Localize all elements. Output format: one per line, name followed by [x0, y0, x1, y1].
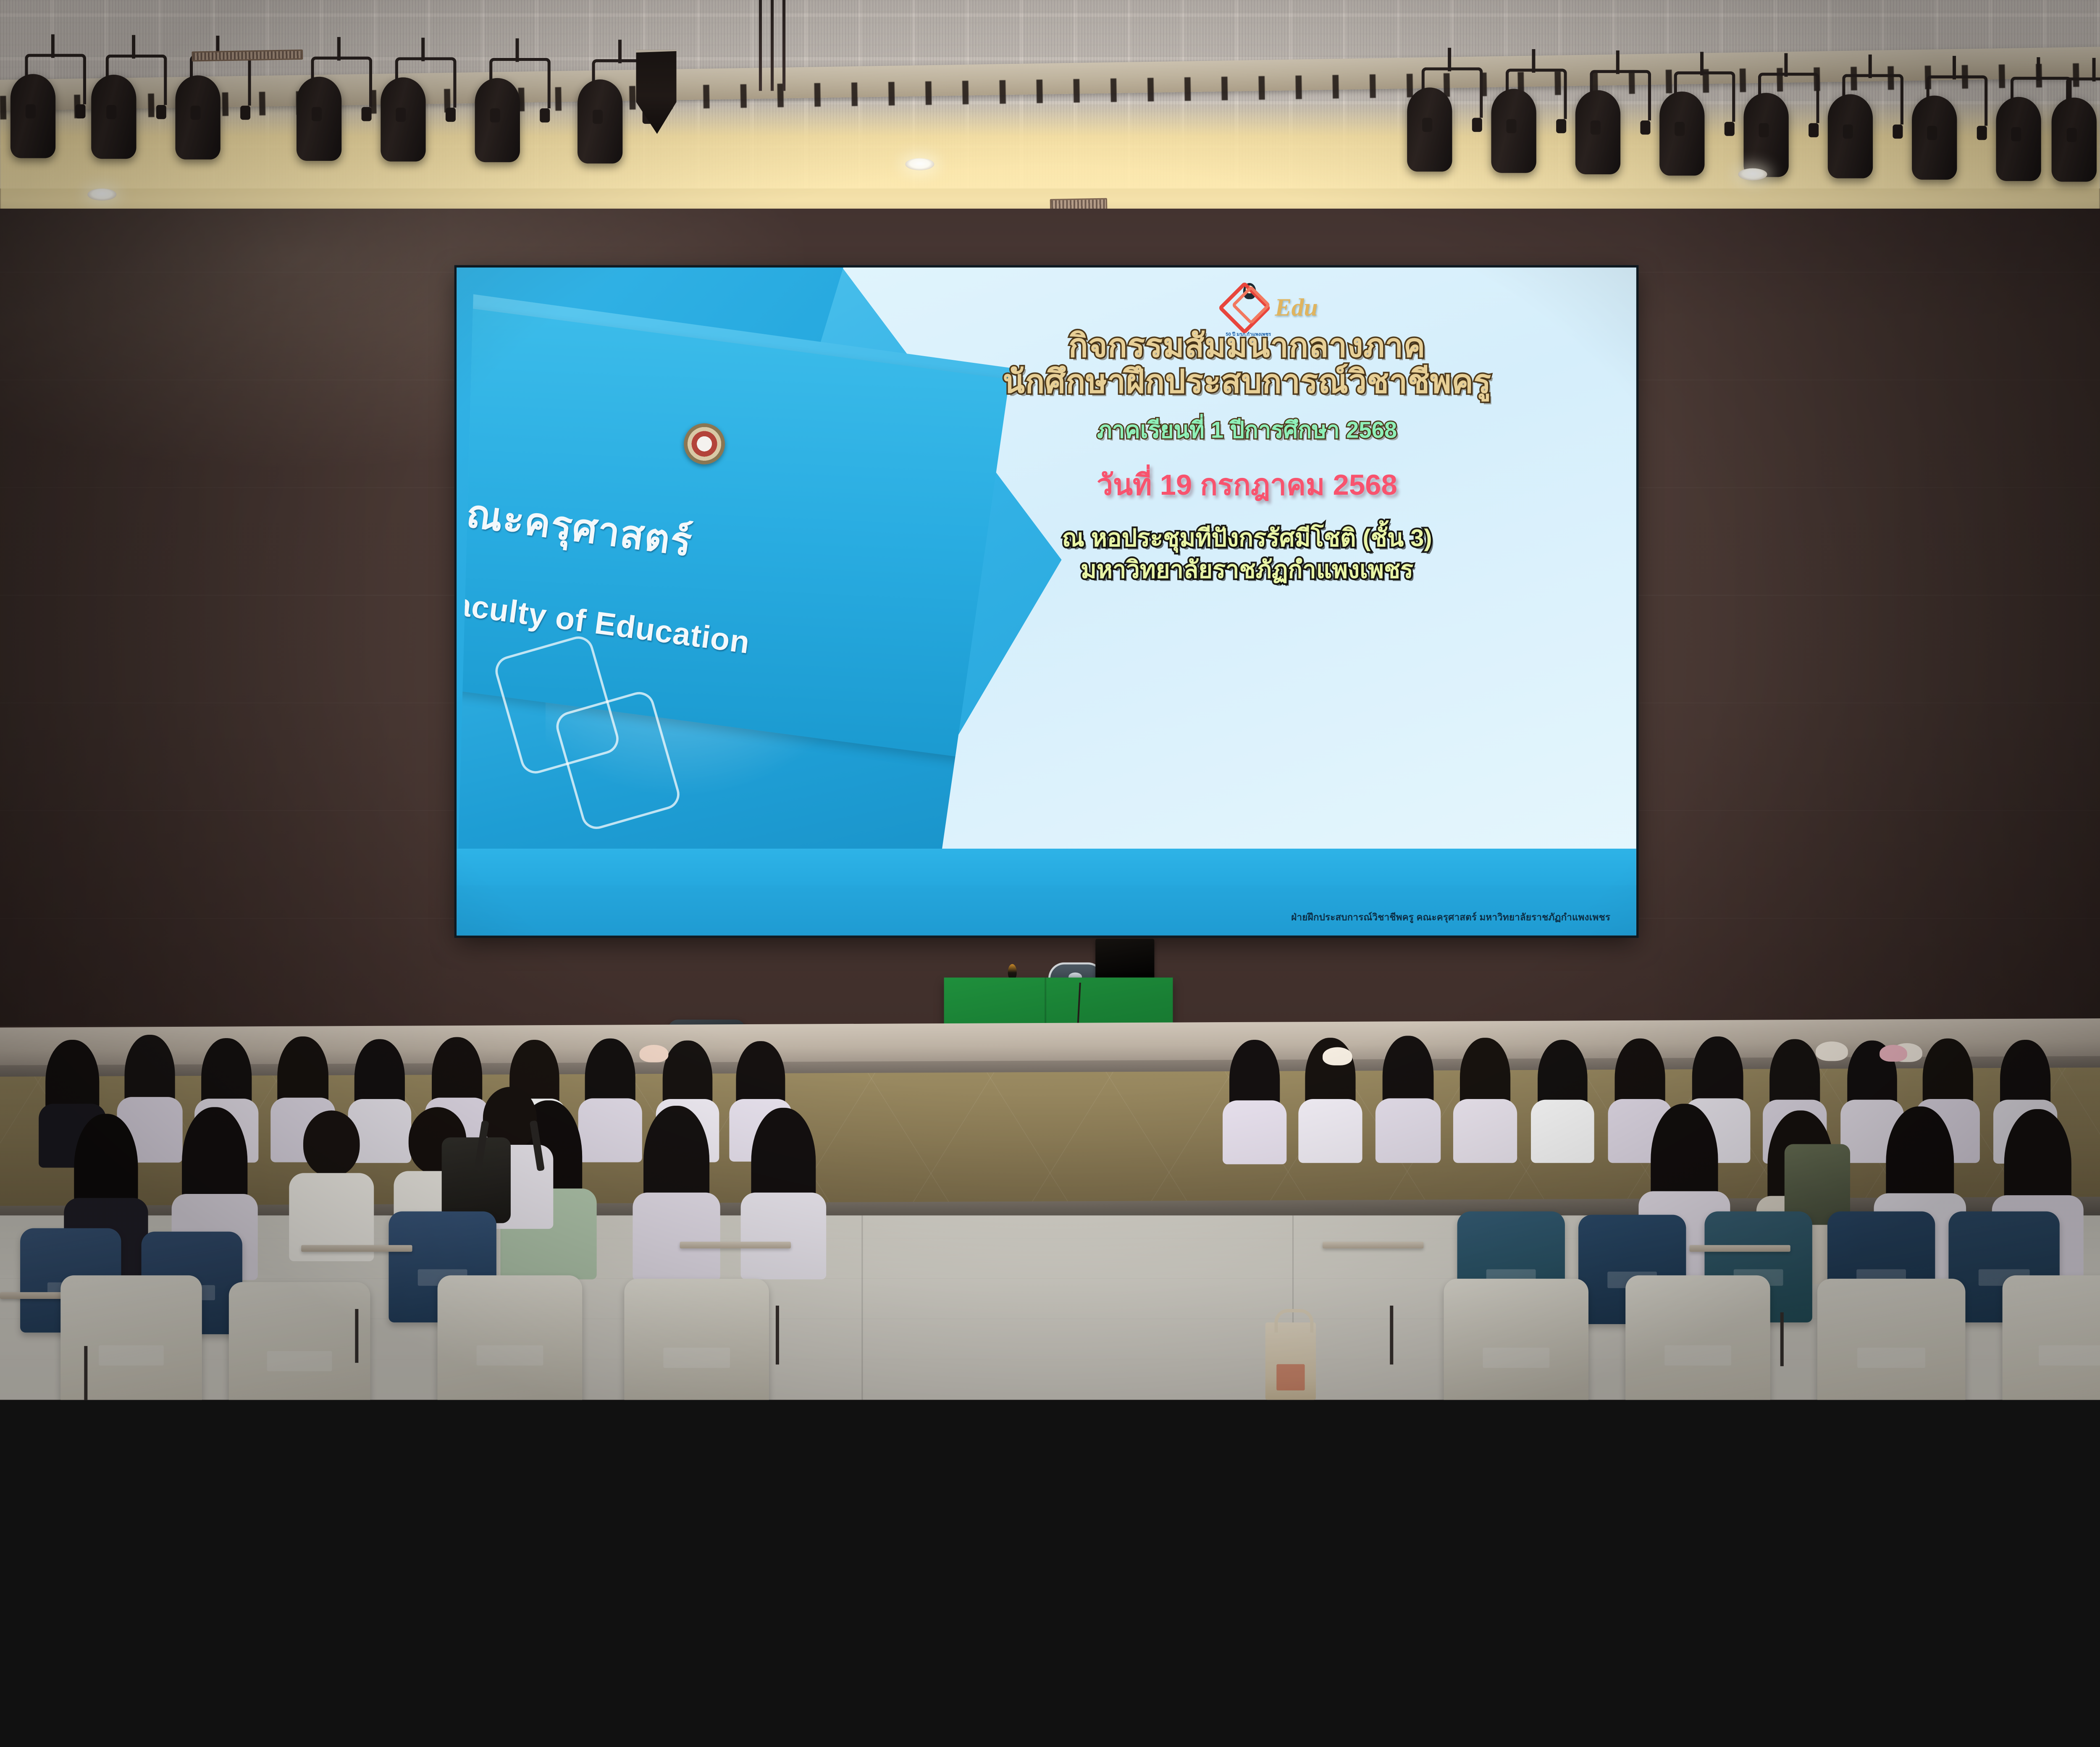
stage-light-icon [1427, 67, 1477, 168]
stage-light-icon [1595, 70, 1646, 171]
downlight-icon [87, 189, 116, 201]
stage-light-icon [111, 55, 161, 155]
hair-ribbon [639, 1045, 668, 1062]
slide-logo-row: 50 ปี มรภ.กำแพงเพชร Edu [1226, 289, 1318, 327]
backpack-icon [442, 1137, 511, 1223]
slide-venue-line-1: ณ หอประชุมทีปังกรรัศมีโชติ (ชั้น 3) [881, 524, 1612, 553]
slide-text-block: กิจกรรมสัมมนากลางภาค นักศึกษาฝึกประสบการ… [881, 328, 1612, 585]
slide-title-line-2: นักศึกษาฝึกประสบการณ์วิชาชีพครู [881, 364, 1612, 400]
downlight-icon [905, 158, 934, 171]
audience-member [1225, 1040, 1284, 1147]
audience-member [1378, 1036, 1438, 1145]
slide-venue-line-2: มหาวิทยาลัยราชภัฏกำแพงเพชร [881, 555, 1612, 585]
fold-out-desk [680, 1242, 791, 1249]
stage-light-icon [1679, 71, 1730, 172]
audience-chair-front[interactable] [60, 1275, 202, 1400]
torso [1375, 1098, 1441, 1163]
stage-light-icon [1764, 73, 1814, 173]
shopping-bag-on-floor [1265, 1322, 1316, 1400]
torso [1223, 1100, 1286, 1164]
stage-light-icon [495, 58, 545, 159]
stage-light-icon [30, 54, 81, 155]
audience-chair-front[interactable] [1444, 1279, 1589, 1400]
audience-member [293, 1110, 370, 1255]
torso [633, 1193, 720, 1281]
hair-ribbon [1879, 1045, 1907, 1062]
audience-chair-front[interactable] [2003, 1275, 2100, 1400]
stage-light-icon [2071, 77, 2100, 178]
anniversary-50-logo-icon: 50 ปี มรภ.กำแพงเพชร [1226, 289, 1263, 327]
floor-seam [861, 1215, 863, 1400]
head [303, 1110, 360, 1176]
hair-ribbon [1816, 1041, 1848, 1061]
torso [1531, 1100, 1594, 1163]
torso [1298, 1099, 1362, 1163]
chair-leg [776, 1306, 779, 1364]
audience-member [1456, 1038, 1515, 1146]
fold-out-desk [1323, 1242, 1423, 1249]
stage-light-icon [1932, 75, 1982, 176]
stage-light-icon [1848, 74, 1898, 175]
edu-script-logo: Edu [1275, 294, 1318, 322]
wall-shadow-left [0, 209, 458, 1026]
projection-screen[interactable]: คณะครุศาสตร์ Faculty of Education 50 ปี … [457, 268, 1636, 936]
chair-leg [1780, 1312, 1784, 1366]
slide-footer-text: ฝ่ายฝึกประสบการณ์วิชาชีพครู คณะครุศาสตร์… [457, 910, 1636, 925]
stage-light-icon [401, 57, 451, 158]
fold-out-desk [301, 1245, 412, 1252]
air-vent-icon [192, 50, 303, 62]
audience-member [1533, 1040, 1592, 1147]
slide-term-line: ภาคเรียนที่ 1 ปีการศึกษา 2568 [881, 412, 1612, 448]
downlight-icon [1738, 168, 1767, 181]
hair-ribbon [1323, 1047, 1352, 1065]
audience-member [744, 1108, 823, 1257]
slide-date-line: วันที่ 19 กรกฎาคม 2568 [881, 461, 1612, 507]
audience-chair-front[interactable] [624, 1279, 769, 1400]
auditorium-scene: คณะครุศาสตร์ Faculty of Education 50 ปี … [0, 0, 2100, 1400]
ceiling-rod [771, 0, 774, 91]
wall-shadow-right [1642, 209, 2100, 1026]
stage-light-icon [316, 57, 367, 157]
chair-leg [1390, 1306, 1393, 1364]
ceiling-rod [759, 0, 762, 91]
ceiling-rod [782, 0, 785, 91]
audience-member [636, 1106, 717, 1257]
chair-leg [84, 1346, 87, 1400]
fold-out-desk [1689, 1245, 1790, 1252]
torso [740, 1193, 826, 1280]
slide-title-line-1: กิจกรรมสัมมนากลางภาค [881, 328, 1612, 364]
audience-chair-front[interactable] [438, 1275, 583, 1400]
audience-chair-front[interactable] [229, 1282, 370, 1400]
audience-chair-front[interactable] [1817, 1279, 1966, 1400]
stage-light-icon [1511, 68, 1562, 169]
audience-chair-front[interactable] [1625, 1275, 1770, 1400]
chair-leg [355, 1309, 358, 1363]
laptop-screen [1095, 939, 1154, 982]
stage-light-icon [195, 55, 246, 156]
torso [1453, 1099, 1517, 1163]
